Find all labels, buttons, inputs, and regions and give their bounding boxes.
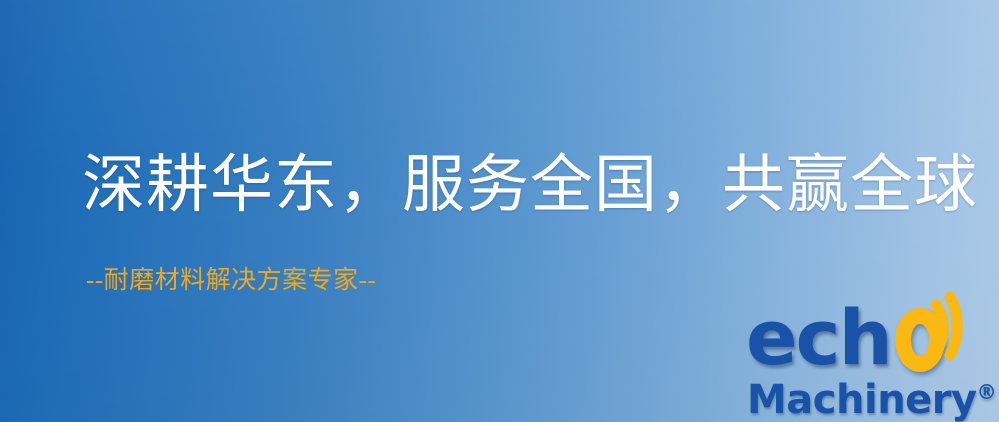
logo-wordmark: ech	[744, 298, 996, 376]
echo-machinery-logo[interactable]: ech Machinery®	[744, 298, 996, 422]
hero-banner: 深耕华东，服务全国，共赢全球 --耐磨材料解决方案专家-- ech Machin…	[0, 0, 999, 422]
signal-arcs-icon	[930, 291, 999, 365]
logo-brand-text: ech	[746, 300, 891, 376]
headline-text: 深耕华东，服务全国，共赢全球	[82, 152, 978, 218]
logo-tagline-text: Machinery	[747, 377, 977, 422]
registered-trademark-icon: ®	[977, 380, 997, 404]
subtitle-text: --耐磨材料解决方案专家--	[86, 266, 376, 296]
logo-tagline: Machinery®	[747, 370, 997, 422]
